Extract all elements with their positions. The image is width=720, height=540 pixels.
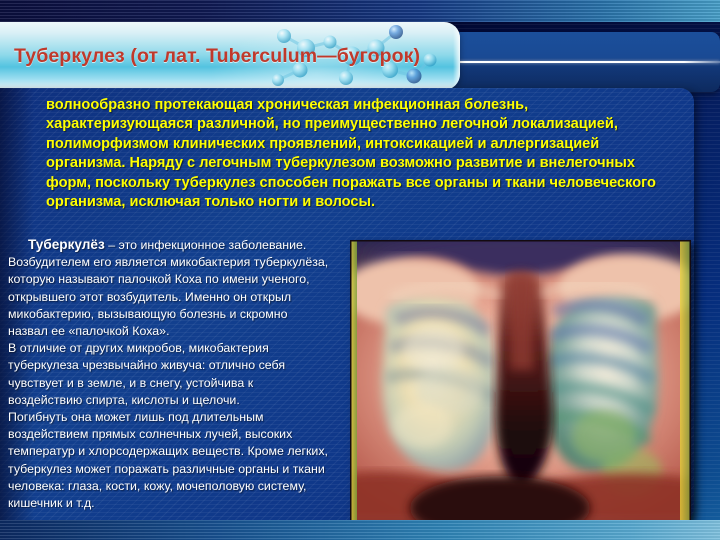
body-text-block: Туберкулёз – это инфекционное заболевани… bbox=[8, 236, 330, 512]
presentation-slide: Туберкулез (от лат. Tuberculum—бугорок) … bbox=[0, 0, 720, 540]
lead-paragraph: волнообразно протекающая хроническая инф… bbox=[46, 96, 660, 212]
page-title: Туберкулез (от лат. Tuberculum—бугорок) bbox=[14, 22, 420, 90]
chest-xray-graphic bbox=[350, 240, 691, 523]
title-banner: Туберкулез (от лат. Tuberculum—бугорок) bbox=[0, 22, 460, 90]
chest-xray-image bbox=[350, 240, 691, 523]
body-paragraph-3: Погибнуть она может лишь под длительным … bbox=[8, 409, 330, 512]
body-term: Туберкулёз bbox=[28, 237, 105, 252]
top-band-texture bbox=[0, 0, 720, 22]
body-paragraph-1: Туберкулёз – это инфекционное заболевани… bbox=[8, 236, 330, 340]
top-decorative-band bbox=[0, 0, 720, 22]
bottom-band-texture bbox=[0, 520, 720, 540]
header-accent-line bbox=[420, 61, 720, 63]
banner-right-edge bbox=[453, 22, 460, 90]
body-paragraph-2: В отличие от других микробов, микобактер… bbox=[8, 340, 330, 409]
body-paragraph-1-text: – это инфекционное заболевание. Возбудит… bbox=[8, 238, 328, 338]
bottom-decorative-band bbox=[0, 520, 720, 540]
